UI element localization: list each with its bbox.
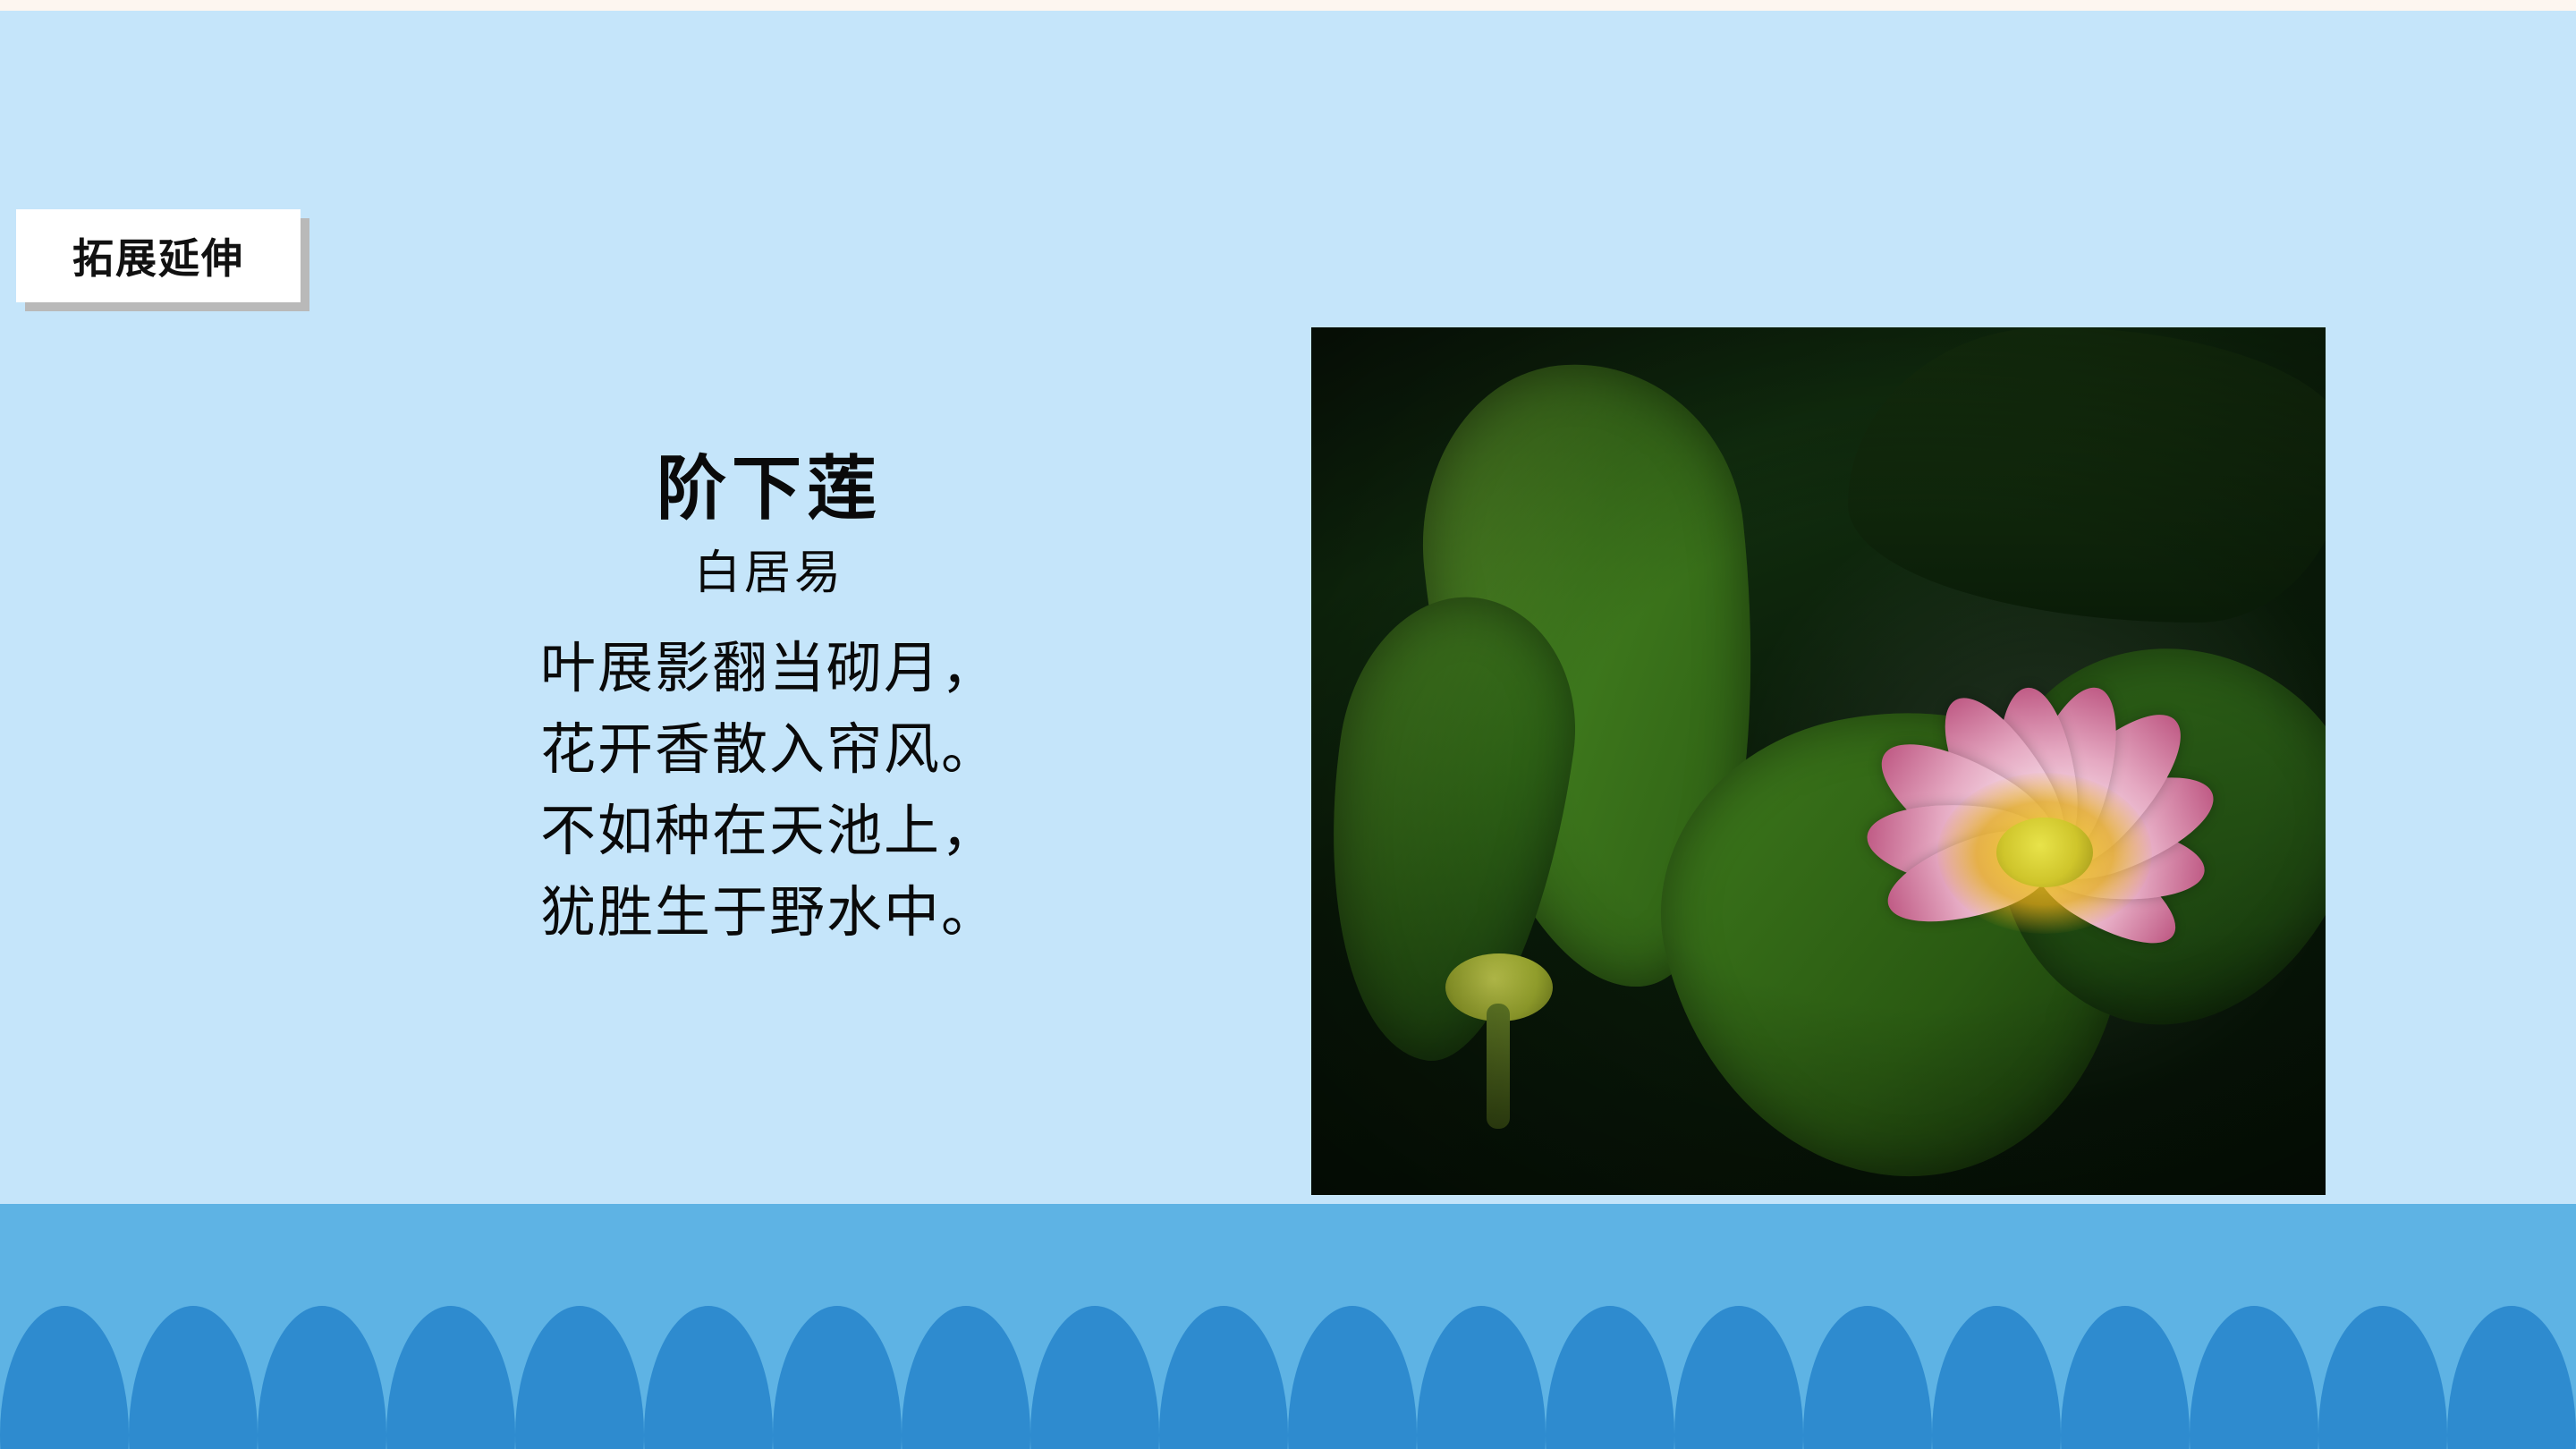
scallop-shape [1288, 1306, 1417, 1449]
poem-author: 白居易 [376, 544, 1163, 605]
scallop-shape [2318, 1306, 2447, 1449]
poem-line-3: 不如种在天池上， [376, 791, 1163, 872]
scallop-shape [515, 1306, 644, 1449]
scallop-shape [773, 1306, 902, 1449]
scallop-shape [2190, 1306, 2318, 1449]
poem-line-2: 花开香散入帘风。 [376, 709, 1163, 791]
scallop-shape [1674, 1306, 1803, 1449]
scallop-shape [2061, 1306, 2190, 1449]
section-tab: 拓展延伸 [16, 209, 301, 302]
poem-title: 阶下莲 [376, 447, 1163, 530]
scallop-shape [129, 1306, 258, 1449]
scallop-shape [258, 1306, 386, 1449]
scallop-shape [1417, 1306, 1546, 1449]
scallop-shape [0, 1306, 129, 1449]
scallop-shape [1159, 1306, 1288, 1449]
scallop-shape [1030, 1306, 1159, 1449]
lotus-seed-head [1996, 818, 2093, 887]
photo-vignette [1311, 327, 2326, 1195]
poem-line-1: 叶展影翻当砌月， [376, 628, 1163, 709]
lotus-photo [1311, 327, 2326, 1195]
scallop-shape [644, 1306, 773, 1449]
top-strip [0, 0, 2576, 11]
scallop-shape [386, 1306, 515, 1449]
lotus-photo-content [1311, 327, 2326, 1195]
scallop-shape [2447, 1306, 2576, 1449]
scallop-shape [1546, 1306, 1674, 1449]
poem-line-4: 犹胜生于野水中。 [376, 872, 1163, 953]
section-tab-label: 拓展延伸 [72, 226, 244, 285]
scallop-shape [1932, 1306, 2061, 1449]
scallop-shape [1803, 1306, 1932, 1449]
scallop-decoration [0, 1306, 2576, 1449]
poem-block: 阶下莲 白居易 叶展影翻当砌月， 花开香散入帘风。 不如种在天池上， 犹胜生于野… [376, 447, 1163, 953]
slide: 拓展延伸 阶下莲 白居易 叶展影翻当砌月， 花开香散入帘风。 不如种在天池上， … [0, 0, 2576, 1449]
scallop-shape [902, 1306, 1030, 1449]
